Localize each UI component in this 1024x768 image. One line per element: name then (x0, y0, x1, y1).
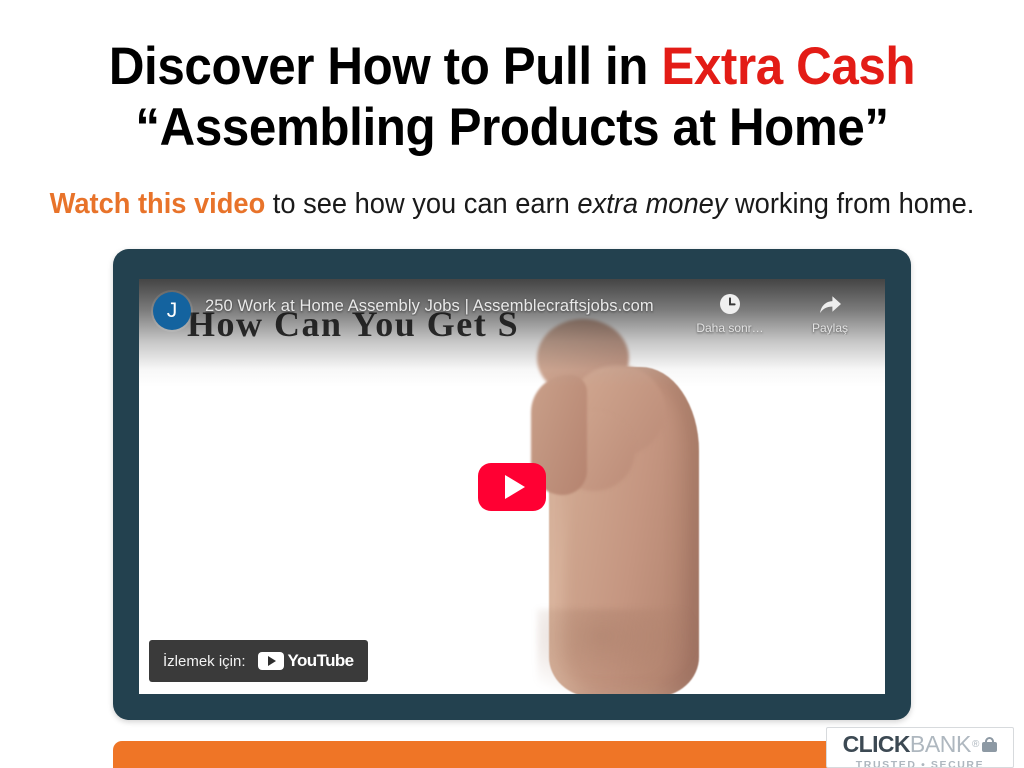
watch-chip-caption: İzlemek için: (163, 653, 246, 670)
youtube-wordmark: YouTube (288, 651, 354, 671)
subheadline-italic-text: extra money (577, 188, 727, 220)
watch-later-button[interactable]: Daha sonr… (693, 292, 767, 335)
share-button[interactable]: Paylaş (793, 292, 867, 335)
clock-icon (693, 292, 767, 318)
headline-line-2: “Assembling Products at Home” (36, 97, 988, 158)
watch-this-video-text: Watch this video (50, 188, 266, 220)
video-frame: How Can You Get S J 250 Work at Home A (113, 249, 911, 720)
share-arrow-icon (793, 292, 867, 318)
subheadline-mid-text: to see how you can earn (265, 188, 577, 220)
player-header: J 250 Work at Home Assembly Jobs | Assem… (139, 279, 885, 355)
landing-page: Discover How to Pull in Extra Cash “Asse… (0, 0, 1024, 768)
headline-line-1: Discover How to Pull in Extra Cash (36, 36, 988, 97)
wrist-shadow (537, 609, 697, 694)
clickbank-tagline: TRUSTED • SECURE (827, 759, 1013, 768)
watch-on-youtube-chip[interactable]: İzlemek için: YouTube (149, 640, 368, 682)
clickbank-brand-light: BANK (910, 733, 971, 756)
youtube-logo: YouTube (258, 651, 354, 671)
subheadline-tail-text: working from home. (727, 188, 974, 220)
watch-later-label: Daha sonr… (693, 321, 767, 335)
youtube-play-badge-icon (258, 652, 284, 670)
clickbank-brand-row: CLICKBANK® (827, 733, 1013, 756)
player-actions: Daha sonr… Paylaş (693, 292, 867, 335)
add-to-cart-button[interactable]: ADD TO CART (113, 741, 911, 768)
clickbank-brand-bold: CLICK (843, 733, 910, 756)
headline-accent-text: Extra Cash (661, 37, 915, 96)
play-button[interactable] (478, 463, 546, 511)
video-title[interactable]: 250 Work at Home Assembly Jobs | Assembl… (205, 297, 693, 316)
play-triangle-icon (505, 475, 525, 499)
avatar[interactable]: J (153, 292, 191, 330)
clickbank-trust-badge: CLICKBANK® TRUSTED • SECURE (826, 727, 1014, 768)
share-label: Paylaş (793, 321, 867, 335)
padlock-icon (982, 737, 997, 752)
subheadline: Watch this video to see how you can earn… (31, 186, 994, 222)
headline-plain-text: Discover How to Pull in (109, 37, 662, 96)
youtube-embed-player[interactable]: How Can You Get S J 250 Work at Home A (139, 279, 885, 694)
registered-trademark-symbol: ® (972, 740, 979, 750)
page-title: Discover How to Pull in Extra Cash “Asse… (36, 36, 988, 158)
